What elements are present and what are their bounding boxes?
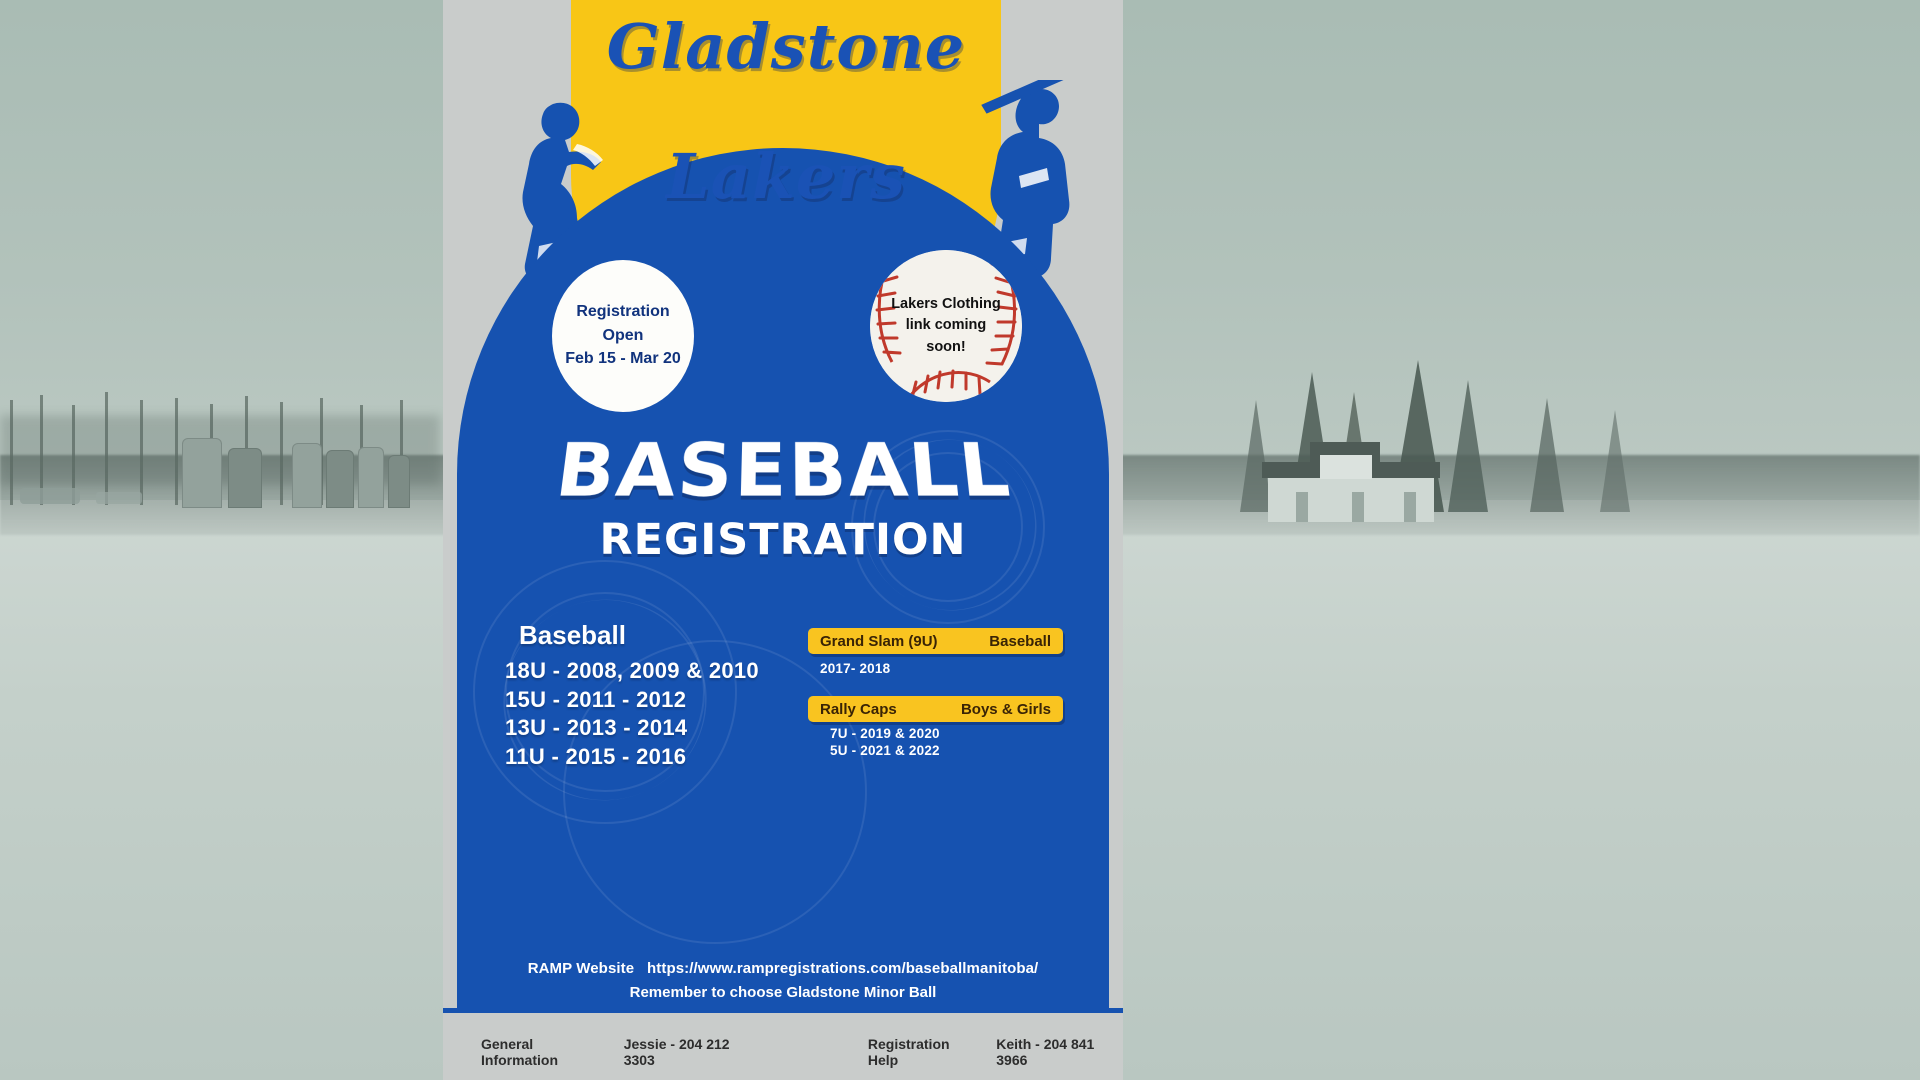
- program-bar-rally-caps-left: Rally Caps: [820, 701, 897, 718]
- clothing-badge-line1: Lakers Clothing: [891, 297, 1001, 312]
- program-bar-rally-caps-right: Boys & Girls: [961, 701, 1051, 718]
- program-grand-slam-years: 2017- 2018: [820, 661, 1063, 676]
- program-bar-grand-slam-left: Grand Slam (9U): [820, 633, 938, 650]
- poster-title-line1: Gladstone: [571, 10, 1001, 83]
- ramp-line: RAMP Website https://www.rampregistratio…: [443, 960, 1123, 977]
- ramp-url[interactable]: https://www.rampregistrations.com/baseba…: [647, 960, 1038, 977]
- program-rally-caps-7u: 7U - 2019 & 2020: [830, 726, 1063, 741]
- general-information-label: General Information: [481, 1036, 608, 1068]
- registration-help-value: Keith - 204 841 3966: [996, 1036, 1123, 1068]
- program-bar-rally-caps[interactable]: Rally Caps Boys & Girls: [808, 696, 1063, 722]
- program-bar-grand-slam-right: Baseball: [989, 633, 1051, 650]
- poster-screenshot: Gladstone Lakers Registration Open Feb 1…: [0, 0, 1920, 1080]
- clothing-badge-line3: soon!: [926, 340, 965, 355]
- contact-footer: General Information Jessie - 204 212 330…: [443, 1008, 1123, 1080]
- registration-open-badge[interactable]: Registration Open Feb 15 - Mar 20: [552, 260, 694, 412]
- registration-badge-line1: Registration: [576, 304, 669, 321]
- headline-baseball: BASEBALL: [551, 427, 1016, 513]
- general-information-value: Jessie - 204 212 3303: [624, 1036, 758, 1068]
- headline-wrap: BASEBALL: [443, 425, 1123, 514]
- clothing-badge-line2: link coming: [906, 318, 987, 333]
- programs-column: Grand Slam (9U) Baseball 2017- 2018 Rall…: [808, 628, 1063, 758]
- divisions-list: Baseball 18U - 2008, 2009 & 2010 15U - 2…: [505, 620, 759, 771]
- registration-badge-line3: Feb 15 - Mar 20: [565, 351, 681, 368]
- lakers-clothing-baseball-badge[interactable]: Lakers Clothing link coming soon!: [870, 250, 1022, 402]
- ramp-info: RAMP Website https://www.rampregistratio…: [443, 960, 1123, 1001]
- division-row-15u: 15U - 2011 - 2012: [505, 686, 759, 715]
- registration-badge-line2: Open: [603, 328, 644, 345]
- divisions-heading: Baseball: [519, 620, 759, 651]
- program-bar-grand-slam[interactable]: Grand Slam (9U) Baseball: [808, 628, 1063, 654]
- division-row-13u: 13U - 2013 - 2014: [505, 714, 759, 743]
- poster-title-line2: Lakers: [571, 140, 1001, 213]
- division-row-18u: 18U - 2008, 2009 & 2010: [505, 657, 759, 686]
- division-row-11u: 11U - 2015 - 2016: [505, 743, 759, 772]
- poster-card: Gladstone Lakers Registration Open Feb 1…: [443, 0, 1123, 1080]
- registration-help-label: Registration Help: [868, 1036, 978, 1068]
- footer-top-rule: [443, 1008, 1123, 1013]
- program-rally-caps-5u: 5U - 2021 & 2022: [830, 743, 1063, 758]
- ramp-label: RAMP Website: [528, 960, 635, 977]
- subheadline-registration: REGISTRATION: [443, 515, 1123, 565]
- footer-contacts-row: General Information Jessie - 204 212 330…: [443, 1036, 1123, 1068]
- ramp-note: Remember to choose Gladstone Minor Ball: [443, 984, 1123, 1001]
